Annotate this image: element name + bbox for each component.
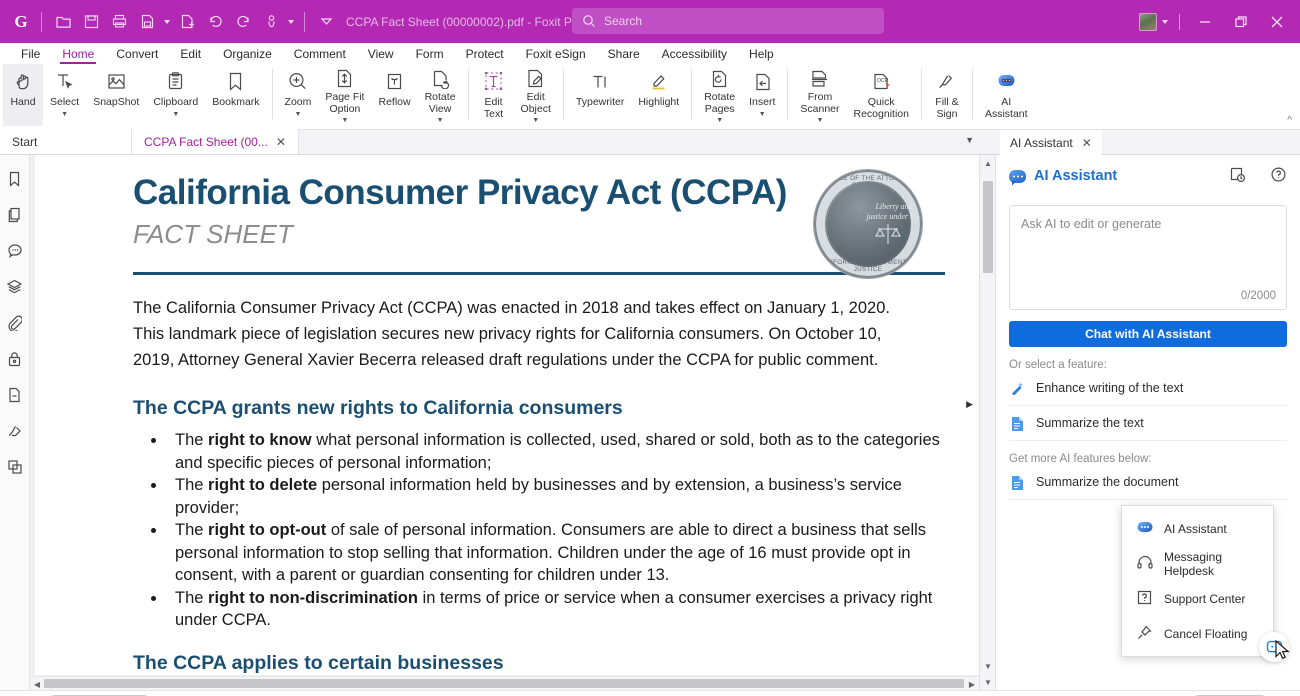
ribbon-button-label: Clipboard [153,97,198,109]
bullet-lead: The [175,431,208,449]
summarize-doc-icon [1009,474,1025,490]
scroll-right-arrow-icon[interactable]: ▶ [965,677,979,690]
ribbon-group-divider [787,69,788,119]
ai-assistant-icon [1136,519,1153,539]
single-page-icon[interactable] [914,693,936,696]
hscroll-thumb[interactable] [44,679,964,688]
first-page-button[interactable]: « [8,693,30,696]
facing-continuous-icon[interactable] [998,693,1020,696]
ribbon-group-divider [691,69,692,119]
bookmark-icon [225,68,246,94]
ribbon-button-hand[interactable]: Hand [3,64,43,126]
open-file-icon[interactable] [49,8,77,36]
divider [304,12,305,32]
new-from-file-icon[interactable] [173,8,201,36]
insert-pages-icon [752,68,773,94]
bullet-lead: The [175,589,208,607]
status-right-controls: − + 132.25% ▼ [914,693,1292,696]
intro-paragraph: The California Consumer Privacy Act (CCP… [133,295,923,373]
scroll-left-arrow-icon[interactable]: ◀ [30,677,44,690]
ribbon-button-label: Fill & Sign [935,97,958,120]
panel-tab-label: AI Assistant [1010,136,1073,150]
ribbon-button-rotate-pages[interactable]: Rotate Pages▼ [697,64,742,126]
char-counter: 0/2000 [1241,290,1276,302]
close-icon[interactable]: ✕ [1082,136,1092,150]
floating-assistant-context-menu: AI AssistantMessaging HelpdeskSupport Ce… [1121,505,1274,657]
rotate-view-icon [430,68,451,89]
ribbon-button-label: Select [50,97,79,109]
last-page-button[interactable]: » [169,693,191,696]
menu-item-file[interactable]: File [10,45,51,63]
history-icon[interactable] [1229,166,1246,186]
window-controls [1139,0,1294,43]
menu-item-messaging-helpdesk[interactable]: Messaging Helpdesk [1122,546,1273,581]
zoom-in-button[interactable]: + [1168,693,1190,696]
edit-text-icon [483,68,504,94]
menu-item-comment[interactable]: Comment [283,45,357,63]
chevron-down-icon[interactable]: ▼ [61,109,68,121]
ribbon-button-from-scanner[interactable]: From Scanner▼ [793,64,846,126]
document-viewport: California Consumer Privacy Act (CCPA) F… [30,155,995,690]
ribbon-button-label: Highlight [638,97,679,109]
list-item: The right to opt-out of sale of personal… [167,519,943,587]
edit-object-icon [525,68,546,89]
ribbon-button-fill-sign[interactable]: Fill & Sign [927,64,967,126]
headset-icon [1136,554,1153,574]
ribbon-button-quick-recognition[interactable]: OCRQuick Recognition [847,64,916,126]
pin-icon [1136,624,1153,644]
ribbon-button-typewriter[interactable]: Typewriter [569,64,631,126]
scroll-thumb[interactable] [983,181,993,273]
chat-with-ai-assistant-button[interactable]: Chat with AI Assistant [1009,321,1287,347]
ribbon-group-divider [272,69,273,119]
rotate-pages-icon [709,68,730,89]
fullscreen-icon[interactable] [1270,693,1292,696]
menu-item-help[interactable]: Help [738,45,785,63]
customize-toolbar-icon[interactable] [312,8,340,36]
redo-icon[interactable] [229,8,257,36]
ribbon-toolbar: HandSelect▼SnapShotClipboard▼BookmarkZoo… [0,64,1300,130]
bullet-bold-term: right to know [208,431,312,449]
ai-panel-header: AI Assistant [996,155,1300,197]
chevron-down-icon[interactable]: ▼ [532,115,539,127]
close-icon[interactable]: ✕ [276,135,286,149]
ribbon-button-clipboard[interactable]: Clipboard▼ [146,64,205,126]
ai-more-feature-list: Summarize the document [996,465,1300,500]
divider [1179,14,1180,30]
ai-prompt-input[interactable]: Ask AI to edit or generate 0/2000 [1009,205,1287,310]
ribbon-button-label: Reflow [378,97,410,109]
fill-sign-icon [936,68,957,94]
california-doj-seal: OFFICE OF THE ATTORNEY GENERAL CALIFORNI… [814,170,922,278]
ribbon-button-rotate-view[interactable]: Rotate View▼ [418,64,463,126]
tab-start[interactable]: Start [0,129,132,154]
ribbon-button-label: Zoom [285,97,312,109]
chevron-down-icon[interactable]: ▼ [172,109,179,121]
ai-input-placeholder: Ask AI to edit or generate [1021,217,1161,231]
previous-page-button[interactable]: ‹ [30,693,52,696]
ribbon-button-ai-assistant[interactable]: AI Assistant [978,64,1035,126]
ai-feature-label: Summarize the document [1036,475,1178,489]
restore-button[interactable] [1224,0,1258,43]
menu-item-foxit-esign[interactable]: Foxit eSign [515,45,597,63]
zoom-out-button[interactable]: − [1026,693,1048,696]
select-icon [54,68,75,94]
ai-feature-summarize-the-document[interactable]: Summarize the document [1009,465,1287,500]
help-icon[interactable] [1270,166,1287,186]
tab-list-caret-icon[interactable]: ▼ [965,135,974,145]
ribbon-button-label: Hand [10,97,35,109]
zoom-in-icon [287,68,308,94]
ribbon-group-divider [468,69,469,119]
menu-item-home[interactable]: Home [51,45,105,63]
fit-width-icon[interactable] [213,693,235,696]
clipboard-icon [165,68,186,94]
menu-bar: FileHomeConvertEditOrganizeCommentViewFo… [0,43,1300,64]
ribbon-button-page-fit-option[interactable]: Page Fit Option▼ [318,64,371,126]
scroll-page-down-icon[interactable]: ▼ [980,674,995,690]
ribbon-button-reflow[interactable]: Reflow [371,64,417,126]
select-feature-label: Or select a feature: [1009,359,1287,371]
menu-item-form[interactable]: Form [405,45,455,63]
tab-label: CCPA Fact Sheet (00... [144,135,268,149]
hand-icon [13,68,34,94]
menu-item-cancel-floating[interactable]: Cancel Floating [1122,616,1273,651]
quick-access-caret-icon[interactable] [285,8,297,36]
page-fit-icon [334,68,355,89]
save-icon[interactable] [77,8,105,36]
chevron-down-icon[interactable]: ▼ [341,115,348,127]
ribbon-group-divider [563,69,564,119]
menu-item-ai-assistant[interactable]: AI Assistant [1122,511,1273,546]
compare-icon[interactable] [2,453,28,481]
seal-motto: Liberty and justice under law [866,202,922,221]
ribbon-button-insert[interactable]: Insert▼ [742,64,782,126]
panel-tab-strip: AI Assistant ✕ [1000,130,1300,155]
ribbon-button-label: SnapShot [93,97,139,109]
close-button[interactable] [1260,0,1294,43]
chevron-down-icon[interactable]: ▼ [437,115,444,127]
ribbon-button-label: Rotate View [425,92,456,115]
menu-item-support-center[interactable]: Support Center [1122,581,1273,616]
horizontal-scrollbar[interactable]: ◀ ▶ [30,676,979,690]
status-bar: « ‹ 1 / 3 ▼ › » − + 132.25% ▼ [0,690,1300,696]
vertical-scrollbar[interactable]: ▲ ▼ ▼ [979,155,995,690]
security-icon[interactable] [2,345,28,373]
ribbon-button-label: Rotate Pages [704,92,735,115]
signature-icon[interactable] [2,417,28,445]
menu-item-label: Support Center [1164,592,1245,606]
left-sidebar: ▶ [0,155,30,690]
scroll-up-arrow-icon[interactable]: ▲ [980,155,995,171]
chevron-down-icon[interactable]: ▼ [716,115,723,127]
chevron-down-icon[interactable]: ▼ [816,115,823,127]
attachments-icon[interactable] [2,309,28,337]
ribbon-button-edit-object[interactable]: Edit Object▼ [514,64,558,126]
ribbon-button-zoom[interactable]: Zoom▼ [278,64,319,126]
ai-feature-label: Summarize the text [1036,416,1144,430]
next-page-button[interactable]: › [147,693,169,696]
fit-page-icon[interactable] [191,693,213,696]
comments-icon[interactable] [2,237,28,265]
ribbon-button-label: Page Fit Option [325,92,364,115]
more-features-label: Get more AI features below: [1009,453,1287,465]
minimize-button[interactable] [1188,0,1222,43]
ribbon-button-label: Quick Recognition [854,97,909,120]
question-box-icon [1136,589,1153,609]
menu-item-share[interactable]: Share [597,45,651,63]
magic-wand-icon [1009,380,1025,396]
menu-item-label: Messaging Helpdesk [1164,550,1273,578]
scanner-icon [809,68,830,89]
menu-item-protect[interactable]: Protect [455,45,515,63]
ai-panel-title: AI Assistant [1034,168,1117,184]
ribbon-button-label: Edit Text [484,97,503,120]
pages-icon[interactable] [2,201,28,229]
bullet-lead: The [175,476,208,494]
ribbon-button-bookmark[interactable]: Bookmark [205,64,266,126]
menu-item-edit[interactable]: Edit [169,45,212,63]
list-item: The right to non-discrimination in terms… [167,587,943,632]
title-bar: G CCPA Fact Sheet (00000002).pdf - Foxit… [0,0,1300,43]
ribbon-button-label: Typewriter [576,97,624,109]
ribbon-button-label: AI Assistant [985,97,1028,120]
menu-item-accessibility[interactable]: Accessibility [651,45,738,63]
undo-icon[interactable] [201,8,229,36]
snapshot-icon [106,68,127,94]
menu-item-label: Cancel Floating [1164,627,1247,641]
scroll-down-arrow-icon[interactable]: ▼ [980,658,995,674]
stamps-icon[interactable] [2,381,28,409]
ribbon-group-divider [972,69,973,119]
ocr-icon: OCR [871,68,892,94]
highlight-icon [648,68,669,94]
menu-item-label: AI Assistant [1164,522,1227,536]
dropdown-caret-icon[interactable] [161,8,173,36]
search-box[interactable]: Search [572,8,884,34]
search-icon [582,14,596,28]
list-item: The right to know what personal informat… [167,429,943,474]
menu-item-convert[interactable]: Convert [105,45,169,63]
ribbon-button-edit-text[interactable]: Edit Text [474,64,514,126]
mouse-cursor [1275,640,1292,662]
ribbon-button-label: Edit Object [521,92,551,115]
account-caret-icon[interactable] [1159,8,1171,36]
ribbon-button-label: From Scanner [800,92,839,115]
avatar[interactable] [1139,13,1157,31]
reflow-icon [384,68,405,94]
main-area: ▶ California Consumer Privacy Act (CCPA)… [0,155,1300,690]
ai-feature-summarize-the-text[interactable]: Summarize the text [1009,406,1287,441]
tab-ccpa-fact-sheet[interactable]: CCPA Fact Sheet (00... ✕ [132,129,299,154]
bullet-bold-term: right to non-discrimination [208,589,418,607]
bullet-bold-term: right to delete [208,476,317,494]
ai-feature-label: Enhance writing of the text [1036,381,1183,395]
section-heading: The CCPA grants new rights to California… [133,397,940,420]
divider [41,12,42,32]
bullet-lead: The [175,521,208,539]
ribbon-button-select[interactable]: Select▼ [43,64,86,126]
ai-assistant-icon [996,68,1017,94]
app-logo: G [8,9,34,35]
tab-ai-assistant[interactable]: AI Assistant ✕ [1000,130,1102,155]
search-placeholder: Search [604,14,642,28]
pdf-page: California Consumer Privacy Act (CCPA) F… [35,155,980,675]
layers-icon[interactable] [2,273,28,301]
bullet-bold-term: right to opt-out [208,521,326,539]
ai-assistant-icon [1009,170,1026,183]
scales-of-justice-icon [868,222,908,246]
ai-feature-list: Enhance writing of the textSummarize the… [996,371,1300,441]
chevron-down-icon[interactable]: ▼ [759,109,766,121]
bookmarks-icon[interactable] [2,165,28,193]
rights-list: The right to know what personal informat… [167,429,940,632]
print-icon[interactable] [105,8,133,36]
menu-item-view[interactable]: View [357,45,405,63]
next-page-arrow-icon[interactable]: ▶ [966,399,973,410]
ribbon-button-label: Insert [749,97,775,109]
summarize-icon [1009,415,1025,431]
next-section-heading: The CCPA applies to certain businesses [133,652,940,675]
facing-icon[interactable] [970,693,992,696]
typewriter-icon [590,68,611,94]
save-as-icon[interactable] [133,8,161,36]
ribbon-button-highlight[interactable]: Highlight [631,64,686,126]
touch-mode-icon[interactable] [257,8,285,36]
continuous-icon[interactable] [942,693,964,696]
list-item: The right to delete personal information… [167,474,943,519]
collapse-ribbon-button[interactable]: ^ [1287,115,1292,126]
ribbon-button-label: Bookmark [212,97,259,109]
ribbon-group-divider [921,69,922,119]
document-tab-strip: Start CCPA Fact Sheet (00... ✕ ▼ AI Assi… [0,130,1300,155]
ribbon-button-snapshot[interactable]: SnapShot [86,64,146,126]
ai-feature-enhance-writing-of-the-text[interactable]: Enhance writing of the text [1009,371,1287,406]
menu-item-organize[interactable]: Organize [212,45,283,63]
chevron-down-icon[interactable]: ▼ [294,109,301,121]
